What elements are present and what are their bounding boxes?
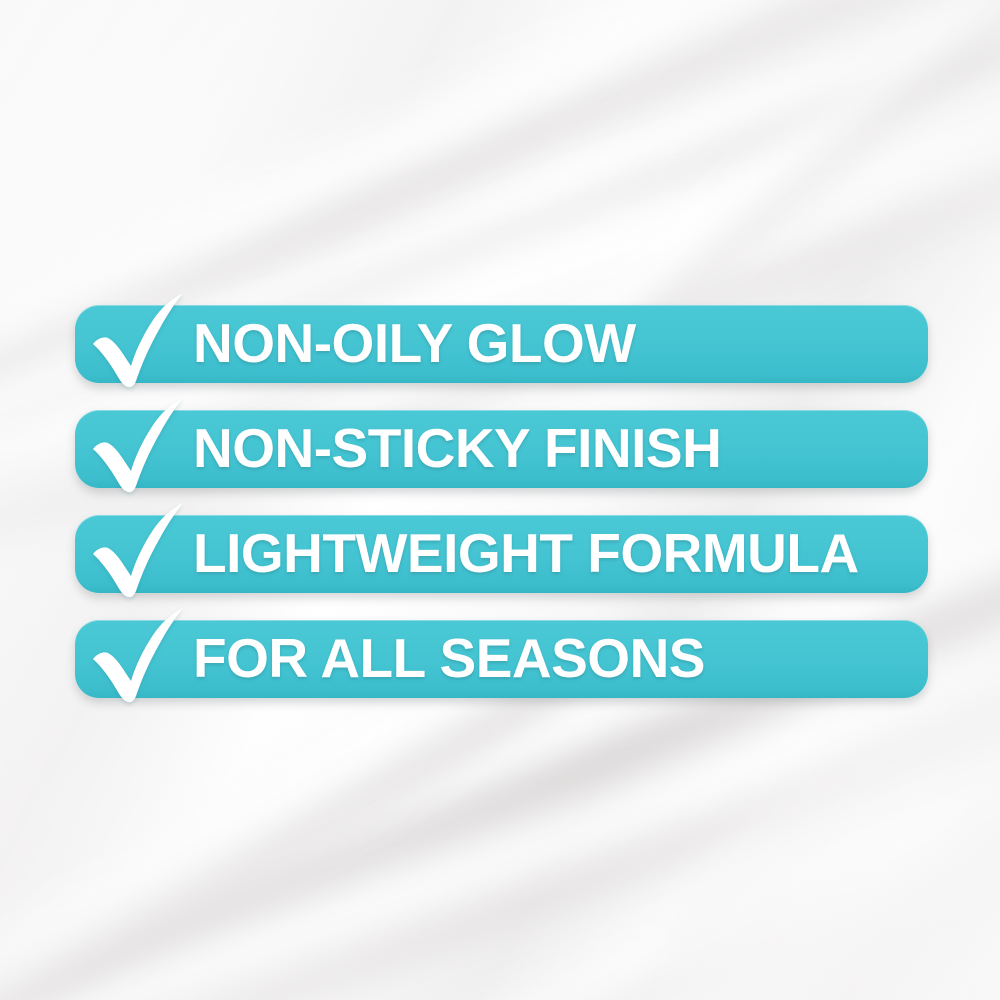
checkmark-icon (75, 515, 193, 593)
claim-banner: FOR ALL SEASONS (75, 620, 928, 698)
product-claims-graphic: NON-OILY GLOW NON-STICKY FINISH LIGHTWEI… (0, 0, 1000, 1000)
checkmark-icon (75, 620, 193, 698)
claim-label: FOR ALL SEASONS (193, 631, 705, 686)
claim-banner: LIGHTWEIGHT FORMULA (75, 515, 928, 593)
claim-banner: NON-STICKY FINISH (75, 410, 928, 488)
claim-label: NON-OILY GLOW (193, 316, 636, 371)
claim-label: NON-STICKY FINISH (193, 421, 721, 476)
checkmark-icon (75, 410, 193, 488)
claims-list: NON-OILY GLOW NON-STICKY FINISH LIGHTWEI… (75, 305, 928, 698)
claim-label: LIGHTWEIGHT FORMULA (193, 526, 859, 581)
claim-banner: NON-OILY GLOW (75, 305, 928, 383)
checkmark-icon (75, 305, 193, 383)
